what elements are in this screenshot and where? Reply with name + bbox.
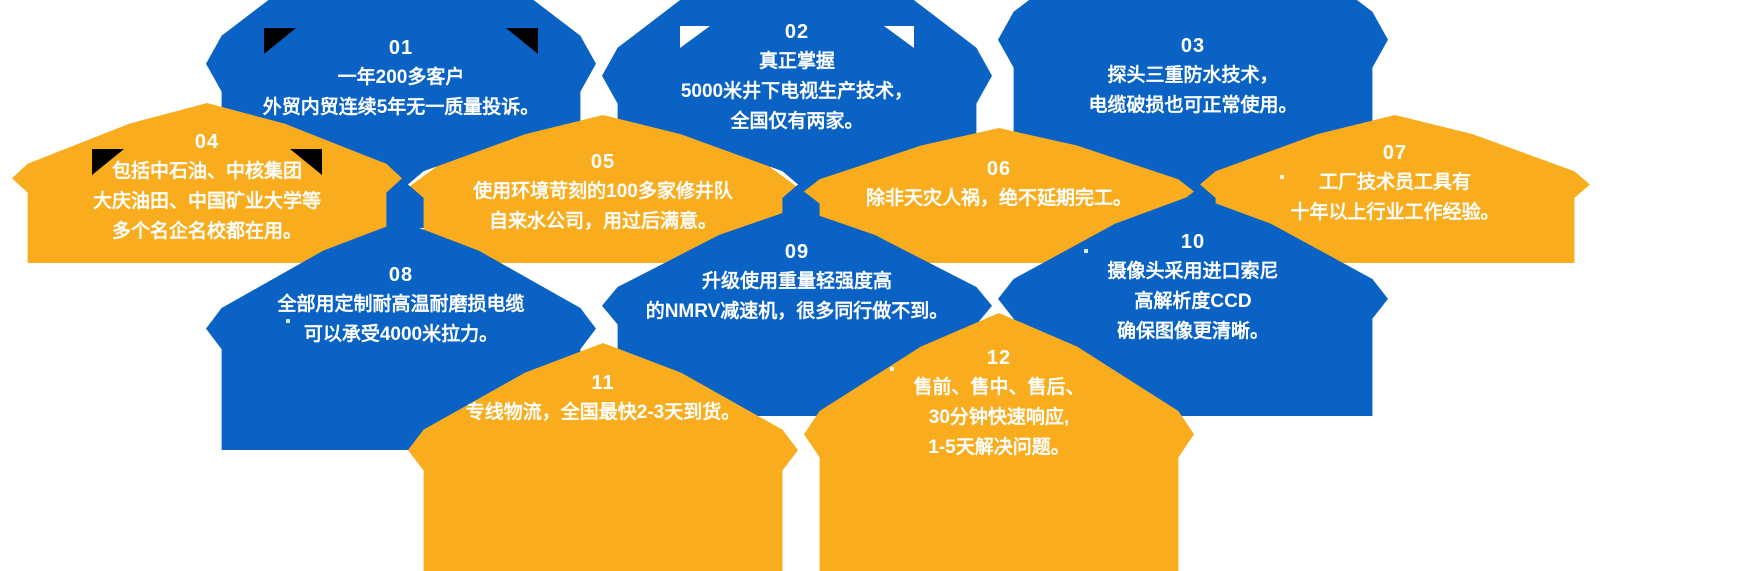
tile-line: 多个名企名校都在用。 [54,217,360,247]
tile-line: 的NMRV减速机，很多同行做不到。 [644,297,950,327]
tile-text: 探头三重防水技术， 电缆破损也可正常使用。 [1040,61,1346,121]
tile-line: 全国仅有两家。 [644,107,950,137]
tile-text: 工厂技术员工具有 十年以上行业工作经验。 [1242,168,1548,228]
tile-text: 摄像头采用进口索尼 高解析度CCD 确保图像更清晰。 [1040,257,1346,347]
tile-text: 专线物流，全国最快2-3天到货。 [450,398,756,428]
tile-line: 30分钟快速响应, [846,403,1152,433]
tile-number: 05 [450,150,756,175]
tile-text: 售前、售中、售后、 30分钟快速响应, 1-5天解决问题。 [846,373,1152,463]
tile-text: 真正掌握 5000米井下电视生产技术， 全国仅有两家。 [644,47,950,137]
tile-line: 包括中石油、中核集团 [54,157,360,187]
tile-line: 1-5天解决问题。 [846,433,1152,463]
tile-text: 除非天灾人祸，绝不延期完工。 [846,184,1152,214]
tile-text: 包括中石油、中核集团 大庆油田、中国矿业大学等 多个名企名校都在用。 [54,157,360,247]
tile-line: 自来水公司，用过后满意。 [450,207,756,237]
tile-text: 使用环境苛刻的100多家修井队 自来水公司，用过后满意。 [450,177,756,237]
tile-line: 真正掌握 [644,47,950,77]
tile-number: 01 [248,36,554,61]
tile-line: 5000米井下电视生产技术， [644,77,950,107]
tile-line: 售前、售中、售后、 [846,373,1152,403]
tile-line: 十年以上行业工作经验。 [1242,198,1548,228]
tile-number: 03 [1040,34,1346,59]
tile-line: 一年200多客户 [248,63,554,93]
tile-number: 02 [644,20,950,45]
tile-text: 一年200多客户 外贸内贸连续5年无一质量投诉。 [248,63,554,123]
infographic-canvas: 01 一年200多客户 外贸内贸连续5年无一质量投诉。 02 真正掌握 5000… [0,0,1762,571]
tile-text: 全部用定制耐高温耐磨损电缆 可以承受4000米拉力。 [248,290,554,350]
tile-line: 外贸内贸连续5年无一质量投诉。 [248,93,554,123]
tile-line: 电缆破损也可正常使用。 [1040,91,1346,121]
tile-line: 使用环境苛刻的100多家修井队 [450,177,756,207]
tile-line: 摄像头采用进口索尼 [1040,257,1346,287]
tile-line: 全部用定制耐高温耐磨损电缆 [248,290,554,320]
tile-number: 08 [248,263,554,288]
tile-line: 工厂技术员工具有 [1242,168,1548,198]
tile-line: 探头三重防水技术， [1040,61,1346,91]
tile-line: 除非天灾人祸，绝不延期完工。 [846,184,1152,214]
tile-line: 高解析度CCD [1040,287,1346,317]
tile-line: 专线物流，全国最快2-3天到货。 [450,398,756,428]
tile-line: 升级使用重量轻强度高 [644,267,950,297]
tile-line: 可以承受4000米拉力。 [248,320,554,350]
tile-line: 确保图像更清晰。 [1040,317,1346,347]
tile-text: 升级使用重量轻强度高 的NMRV减速机，很多同行做不到。 [644,267,950,327]
tile-line: 大庆油田、中国矿业大学等 [54,187,360,217]
tile-number: 06 [846,157,1152,182]
